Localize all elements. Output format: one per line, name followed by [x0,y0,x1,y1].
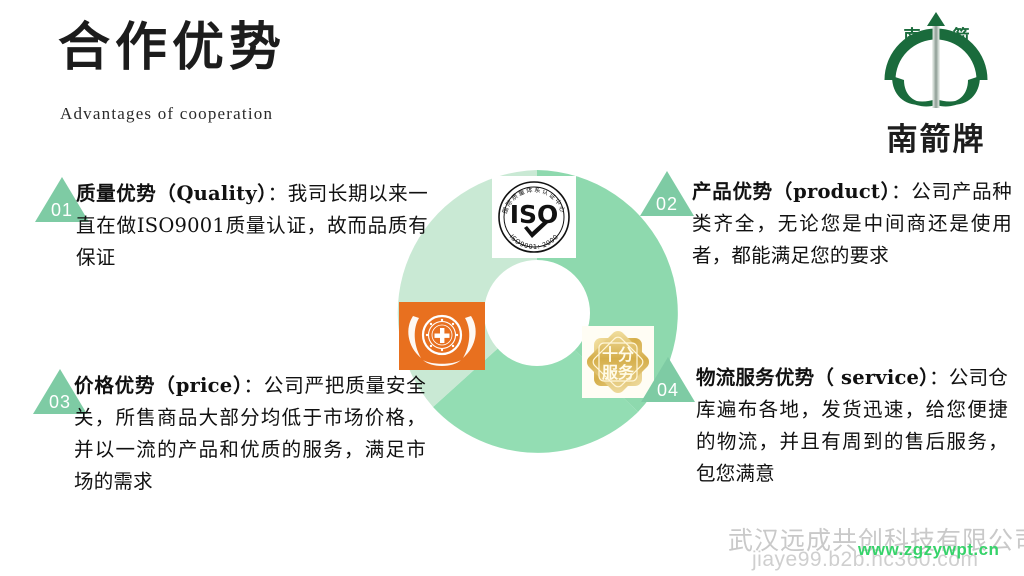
watermark-b2b-url: jiaye99.b2b.hc360.com [752,548,978,572]
advantage-lead-02: 产品优势（product） [692,180,891,203]
slide-canvas: 合作优势 Advantages of cooperation 南 箭 南箭牌 [0,0,1024,576]
advantage-badge-02: 02 [639,170,695,217]
advantage-text-03: 价格优势（price）：公司严把质量安全关，所售商品大部分均低于市场价格，并以一… [74,370,426,498]
nanjian-brand-logo-icon: 南 箭 [874,6,998,118]
advantage-text-02: 产品优势（product）：公司产品种类齐全，无论您是中间商还是使用者，都能满足… [692,176,1012,272]
advantage-lead-01: 质量优势（Quality） [76,182,268,205]
gold-badge-line2: 服务 [602,363,635,382]
gold-badge-line1: 十分 [602,345,634,364]
quality-emblem-badge-icon [399,302,485,370]
brand-logo: 南 箭 南箭牌 [866,6,1006,161]
watermark-company: 武汉远成共创科技有限公司 [728,521,1024,557]
iso-certification-badge: 国际质量体系认证中心 ISO9001: 2000 ISO [492,176,576,258]
watermark-site-url: www.zgzywpt.cn [858,540,999,560]
logo-char-left: 南 [904,26,921,47]
advantage-badge-04: 04 [640,356,696,403]
logo-char-right: 箭 [953,26,970,47]
advantage-lead-04: 物流服务优势（ service） [696,366,929,389]
advantage-text-01: 质量优势（Quality）：我司长期以来一直在做ISO9001质量认证，故而品质… [76,178,428,274]
page-subtitle: Advantages of cooperation [60,104,273,124]
logo-wordmark: 南箭牌 [866,114,1006,159]
advantage-lead-03: 价格优势（price） [74,374,244,397]
advantage-number-04: 04 [640,380,696,401]
donut-center-hole [484,260,590,366]
page-title: 合作优势 [58,18,286,78]
quality-emblem-badge [399,302,485,370]
advantage-number-02: 02 [639,194,695,215]
iso-main-text: ISO [510,200,559,229]
iso-certification-badge-icon: 国际质量体系认证中心 ISO9001: 2000 ISO [492,176,576,258]
advantage-text-04: 物流服务优势（ service）：公司仓库遍布各地，发货迅速，给您便捷的物流，并… [696,362,1008,490]
